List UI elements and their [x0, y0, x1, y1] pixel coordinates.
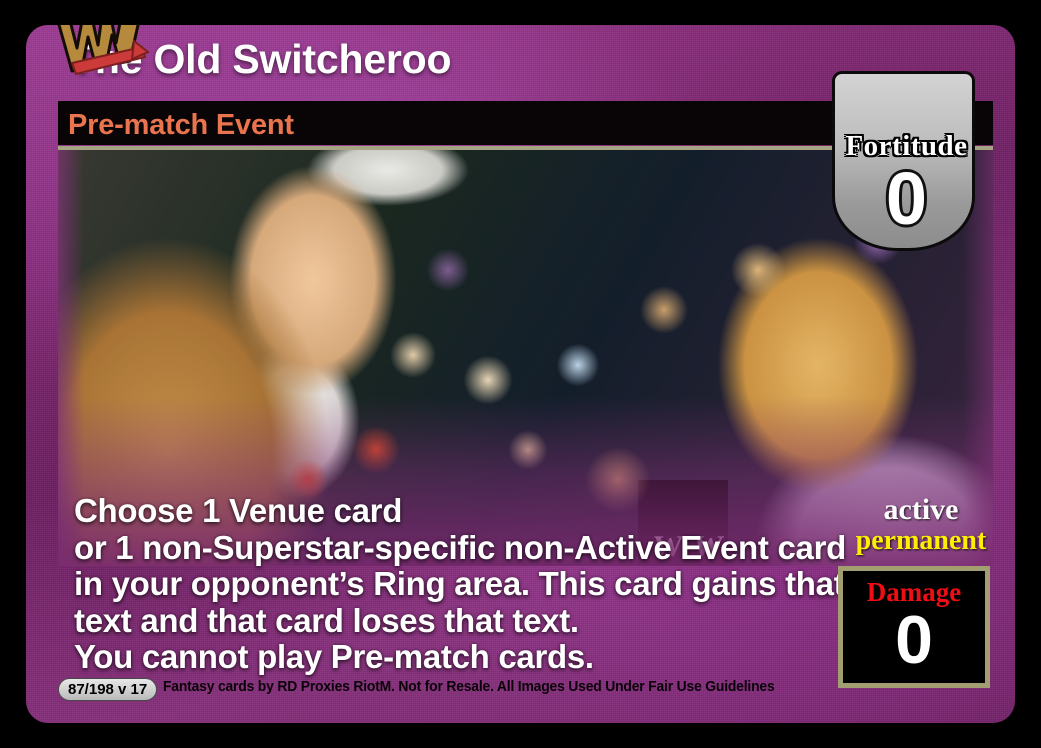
card-text-line: You cannot play Pre-match cards. [74, 639, 814, 676]
card-rules-text: Choose 1 Venue card or 1 non-Superstar-s… [74, 493, 814, 676]
card-text-line: Choose 1 Venue card [74, 493, 814, 530]
card-text-line: or 1 non-Superstar-specific non-Active E… [74, 530, 814, 567]
card-type-subtitle: Pre-match Event [68, 109, 294, 142]
card-outer-frame: The Old Switcheroo Pre-match Event W W F… [0, 0, 1041, 748]
damage-value: 0 [843, 604, 985, 676]
card-number-badge: 87/198 v 17 [58, 678, 157, 701]
card-credits-text: Fantasy cards by RD Proxies RiotM. Not f… [163, 679, 775, 695]
card-text-line: in your opponent’s Ring area. This card … [74, 566, 814, 603]
damage-box: Damage 0 [838, 566, 990, 688]
fortitude-shield: Fortitude 0 [832, 71, 975, 251]
fortitude-value: 0 [835, 162, 978, 236]
wwe-scratch-logo-icon [46, 25, 150, 79]
keyword-permanent: permanent [831, 525, 1011, 557]
card-body: The Old Switcheroo Pre-match Event W W F… [26, 25, 1015, 723]
keyword-active: active [831, 493, 1011, 527]
card-text-line: text and that card loses that text. [74, 603, 814, 640]
